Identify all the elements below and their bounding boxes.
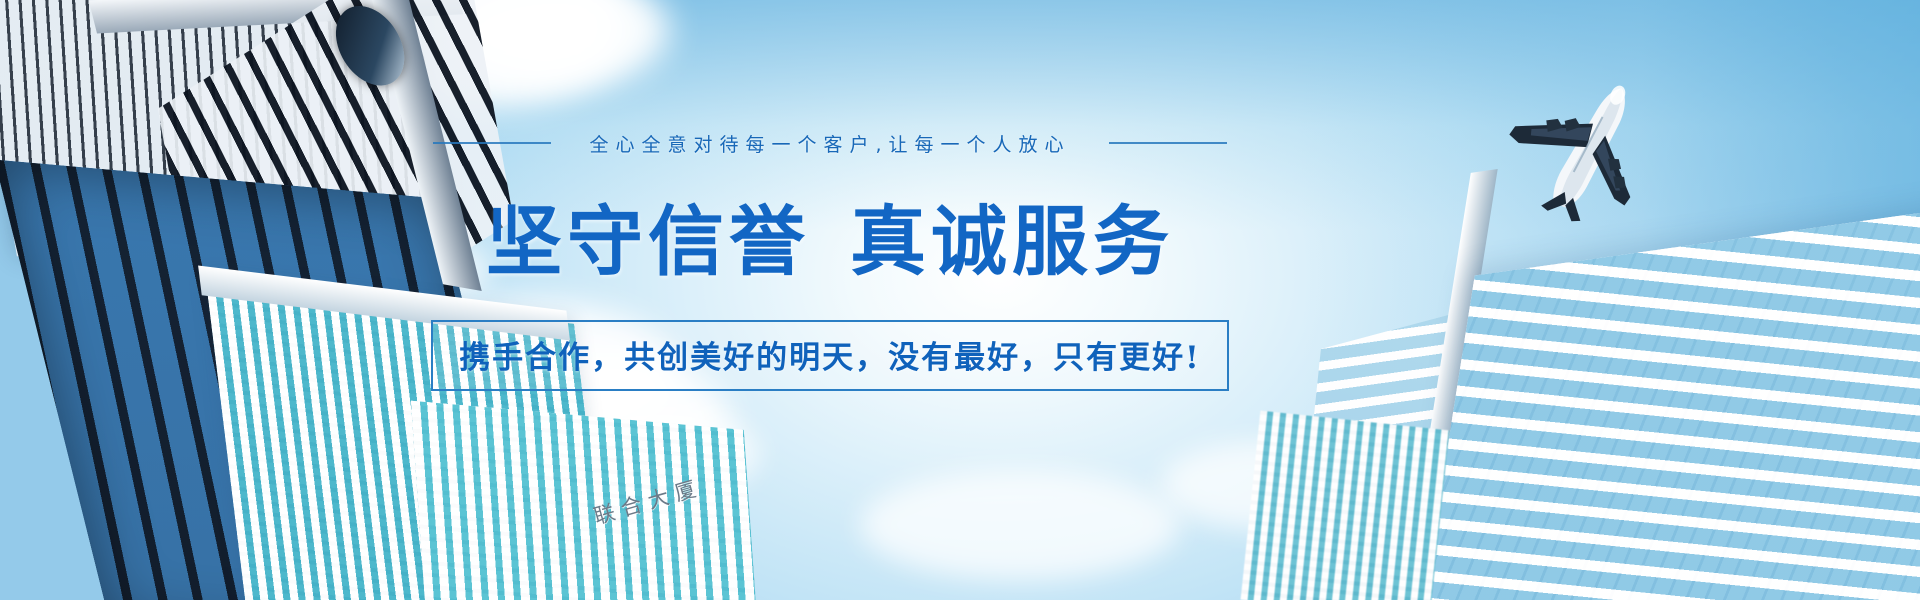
tagline-row: 全心全意对待每一个客户,让每一个人放心 (433, 128, 1226, 158)
promo-banner: 联合大厦 (0, 0, 1920, 600)
subtitle-text: 携手合作，共创美好的明天，没有最好，只有更好! (459, 340, 1201, 376)
headline: 坚守信誉真诚服务 (486, 180, 1174, 290)
rule-left (433, 142, 551, 144)
headline-left: 坚守信誉 (486, 197, 810, 286)
rule-right (1109, 142, 1227, 144)
headline-right: 真诚服务 (850, 197, 1174, 286)
banner-copy: 全心全意对待每一个客户,让每一个人放心 坚守信誉真诚服务 携手合作，共创美好的明… (0, 0, 1660, 600)
tagline-text: 全心全意对待每一个客户,让每一个人放心 (589, 130, 1070, 157)
subtitle-box: 携手合作，共创美好的明天，没有最好，只有更好! (431, 320, 1229, 391)
